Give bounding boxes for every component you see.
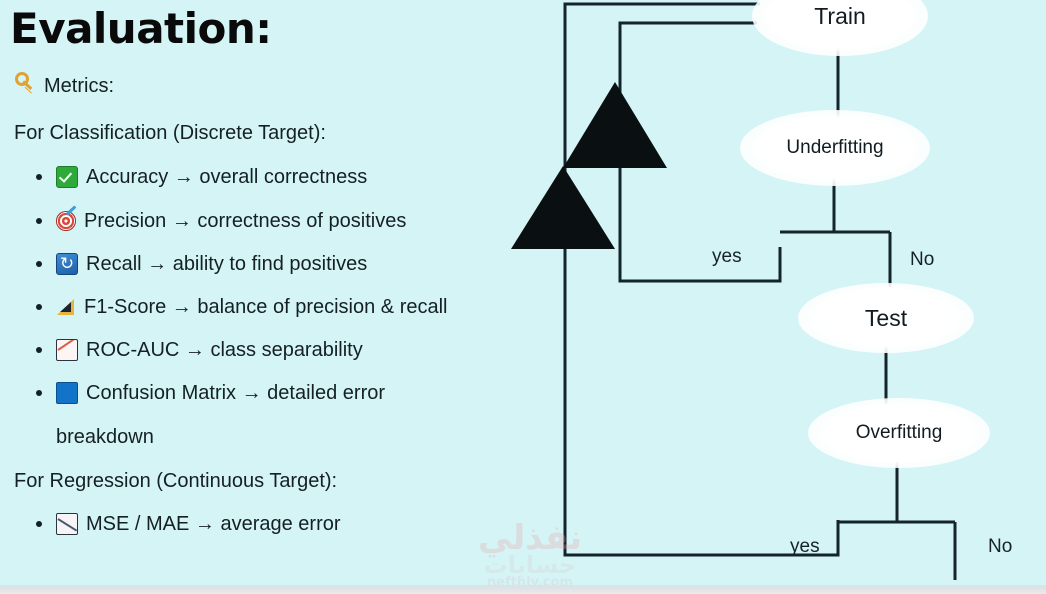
node-underfitting[interactable]: Underfitting xyxy=(740,110,930,186)
slide-canvas: Evaluation: Metrics: For Classification … xyxy=(0,0,1046,594)
node-train-label: Train xyxy=(814,3,866,30)
edge-label-overfitting-no: No xyxy=(988,536,1012,558)
arrowhead-upper-icon xyxy=(563,82,667,168)
edge-label-overfitting-yes: yes xyxy=(790,536,820,558)
node-underfitting-label: Underfitting xyxy=(786,137,883,159)
edge-label-underfitting-no: No xyxy=(910,249,934,271)
bottom-strip xyxy=(0,585,1046,594)
flowchart-diagram: Train Underfitting Test Overfitting yes … xyxy=(0,0,1046,594)
edge-label-underfitting-yes: yes xyxy=(712,246,742,268)
node-overfitting-label: Overfitting xyxy=(856,422,943,444)
node-test[interactable]: Test xyxy=(798,283,974,353)
node-overfitting[interactable]: Overfitting xyxy=(808,398,990,468)
node-test-label: Test xyxy=(865,305,907,332)
arrowhead-lower-icon xyxy=(511,166,615,249)
